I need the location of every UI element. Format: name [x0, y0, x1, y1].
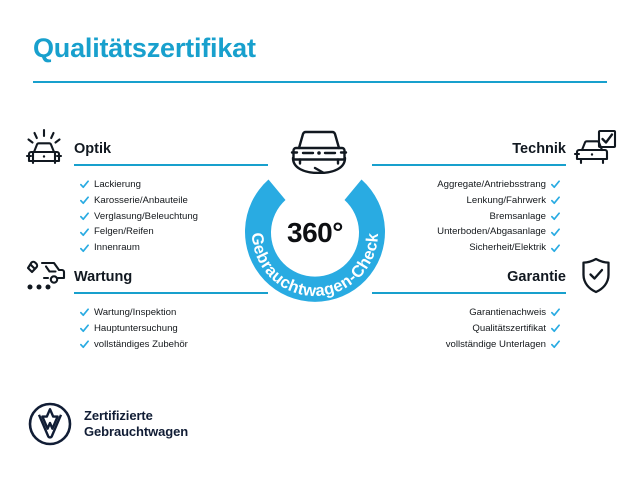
check-icon	[80, 180, 89, 189]
check-icon	[551, 340, 560, 349]
360-check-badge: Gebrauchtwagen-Check 360°	[232, 118, 408, 314]
check-icon	[551, 212, 560, 221]
page-header: Qualitätszertifikat	[33, 34, 607, 83]
list-item-label: Bremsanlage	[489, 212, 546, 222]
list-item-label: Innenraum	[94, 243, 140, 253]
check-icon	[551, 244, 560, 253]
check-icon	[80, 228, 89, 237]
check-icon	[80, 196, 89, 205]
list-item: vollständiges Zubehör	[80, 337, 268, 353]
car-shine-icon	[22, 128, 66, 168]
vw-footer-line2: Gebrauchtwagen	[84, 424, 188, 440]
section-garantie-header: Garantie	[372, 256, 618, 296]
list-item-label: Karosserie/Anbauteile	[94, 196, 188, 206]
list-item-label: Wartung/Inspektion	[94, 308, 176, 318]
list-item-label: Qualitätszertifikat	[472, 324, 546, 334]
car-service-wrench-icon	[22, 256, 66, 296]
list-item-label: vollständiges Zubehör	[94, 340, 188, 350]
check-icon	[551, 308, 560, 317]
section-technik: Technik Aggregate/Antriebsstrang Lenkung…	[372, 128, 618, 256]
section-technik-header: Technik	[372, 128, 618, 168]
shield-check-icon	[574, 256, 618, 296]
vw-footer-text: Zertifizierte Gebrauchtwagen	[84, 408, 188, 440]
list-item-label: Verglasung/Beleuchtung	[94, 212, 198, 222]
section-technik-list: Aggregate/Antriebsstrang Lenkung/Fahrwer…	[372, 177, 618, 256]
check-icon	[551, 228, 560, 237]
list-item-label: Aggregate/Antriebsstrang	[437, 180, 546, 190]
list-item-label: Hauptuntersuchung	[94, 324, 178, 334]
check-icon	[551, 180, 560, 189]
check-icon	[80, 340, 89, 349]
list-item-label: Sicherheit/Elektrik	[469, 243, 546, 253]
check-icon	[80, 212, 89, 221]
list-item-label: Lenkung/Fahrwerk	[467, 196, 546, 206]
list-item: Qualitätszertifikat	[372, 321, 560, 337]
list-item-label: Garantienachweis	[469, 308, 546, 318]
list-item: vollständige Unterlagen	[372, 337, 560, 353]
check-icon	[80, 324, 89, 333]
certificate-page: Qualitätszertifikat	[0, 0, 640, 480]
vw-logo-icon	[28, 402, 72, 446]
section-garantie: Garantie Garantienachweis Qualitätszerti…	[372, 256, 618, 352]
list-item: Hauptuntersuchung	[80, 321, 268, 337]
section-garantie-list: Garantienachweis Qualitätszertifikat vol…	[372, 305, 618, 352]
check-icon	[80, 244, 89, 253]
car-checkbox-icon	[574, 128, 618, 168]
vw-footer: Zertifizierte Gebrauchtwagen	[28, 402, 188, 446]
page-title: Qualitätszertifikat	[33, 34, 607, 64]
car-rotate-360-icon	[282, 118, 356, 174]
list-item-label: Unterboden/Abgasanlage	[437, 227, 546, 237]
check-icon	[551, 196, 560, 205]
title-divider	[33, 81, 607, 83]
list-item-label: Lackierung	[94, 180, 141, 190]
list-item-label: vollständige Unterlagen	[446, 340, 546, 350]
vw-footer-line1: Zertifizierte	[84, 408, 188, 424]
list-item-label: Felgen/Reifen	[94, 227, 154, 237]
check-icon	[80, 308, 89, 317]
check-icon	[551, 324, 560, 333]
badge-center-label: 360°	[232, 219, 398, 247]
